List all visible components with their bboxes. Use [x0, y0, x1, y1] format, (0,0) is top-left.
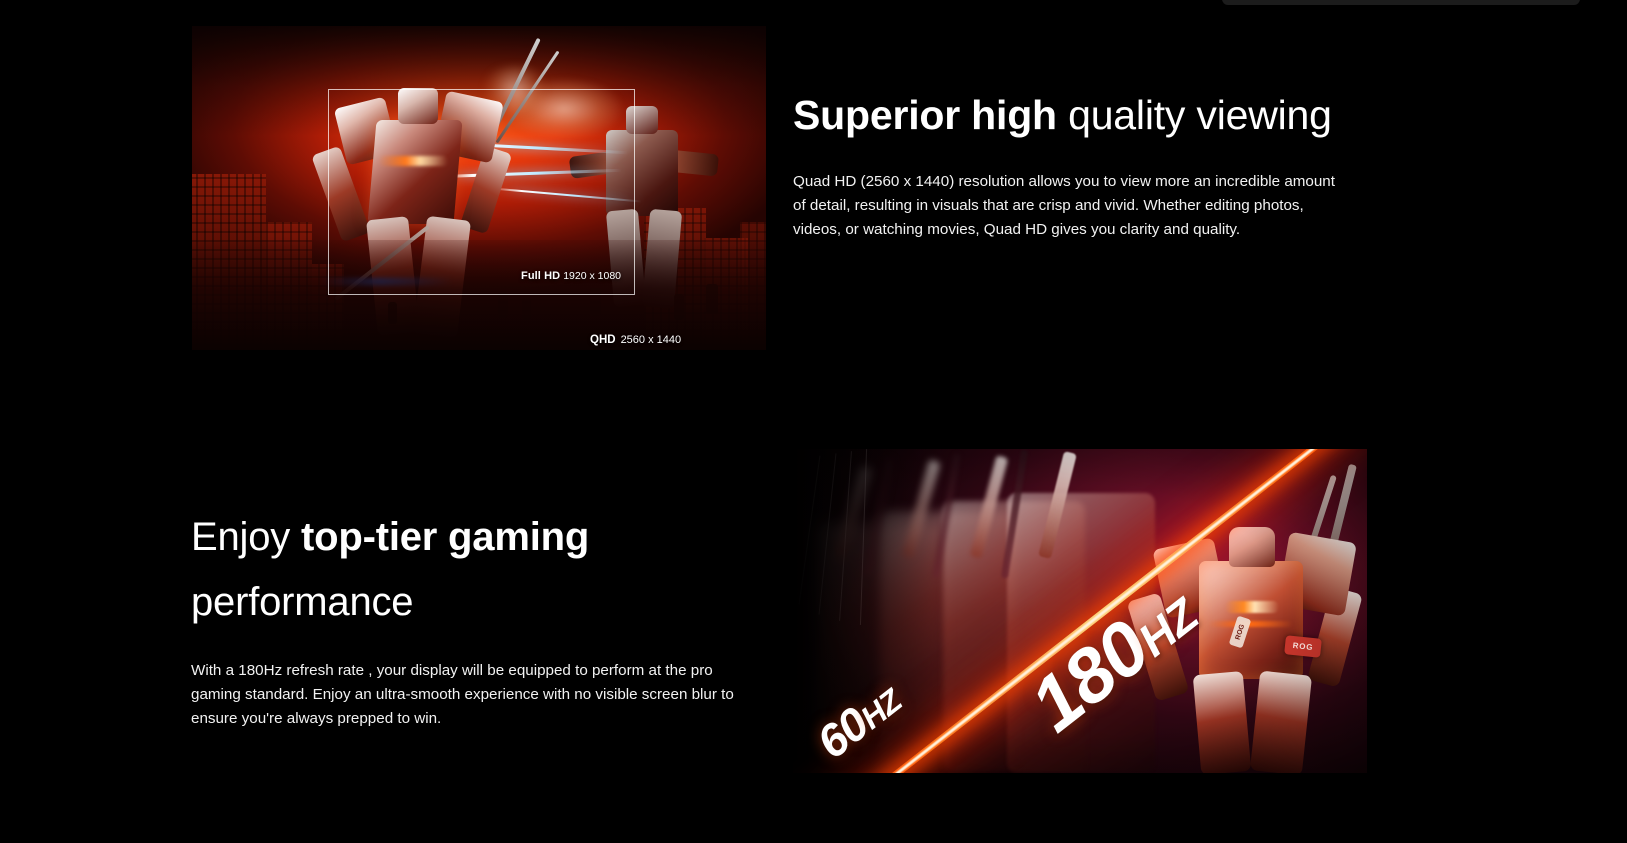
heading-strong: top-tier gaming	[301, 515, 589, 559]
heading-rest: quality viewing	[1057, 92, 1332, 138]
heading-rest: performance	[191, 580, 413, 624]
section-quality-text: Superior high quality viewing Quad HD (2…	[793, 82, 1353, 242]
section-gaming-text: Enjoy top-tier gaming performance With a…	[191, 505, 766, 731]
heading-strong: Superior high	[793, 92, 1057, 138]
full-hd-label: Full HD1920 x 1080	[521, 270, 621, 282]
full-hd-label-resolution: 1920 x 1080	[563, 270, 621, 282]
cut-off-panel-sliver	[1222, 0, 1580, 5]
refresh-rate-comparison-image: ROG ROG 60HZ 180HZ	[793, 449, 1367, 773]
heading-lead: Enjoy	[191, 515, 301, 559]
section-quality-body: Quad HD (2560 x 1440) resolution allows …	[793, 170, 1349, 242]
qhd-label-resolution: 2560 x 1440	[621, 334, 682, 346]
full-hd-label-title: Full HD	[521, 270, 560, 282]
qhd-comparison-image: Full HD1920 x 1080 QHD2560 x 1440	[192, 26, 766, 350]
qhd-label-title: QHD	[590, 334, 616, 346]
section-gaming-body: With a 180Hz refresh rate , your display…	[191, 659, 763, 731]
section-gaming-heading: Enjoy top-tier gaming performance	[191, 505, 766, 635]
marketing-page: Full HD1920 x 1080 QHD2560 x 1440 Superi…	[0, 0, 1627, 843]
section-quality-heading: Superior high quality viewing	[793, 82, 1353, 148]
full-hd-frame-overlay	[328, 89, 635, 295]
qhd-label: QHD2560 x 1440	[590, 334, 681, 346]
